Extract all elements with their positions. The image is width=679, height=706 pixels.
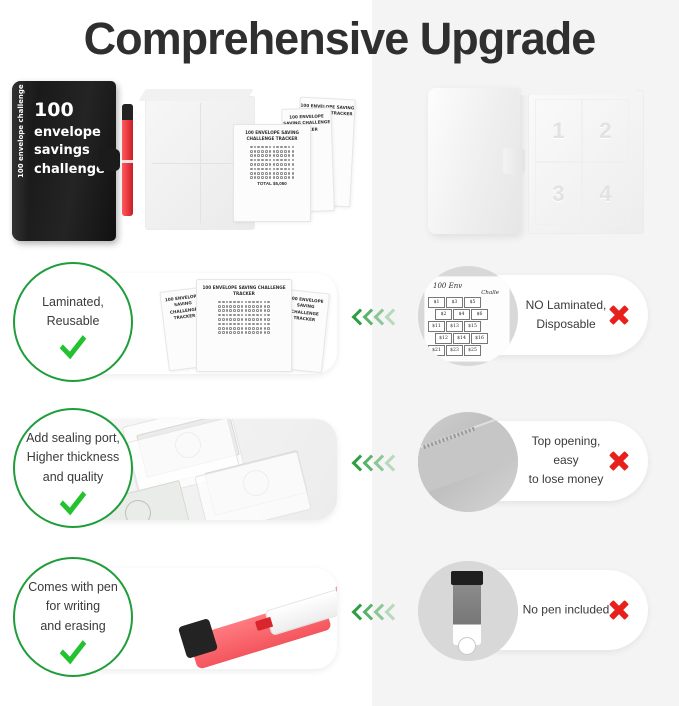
gray-pen-cap: [451, 571, 483, 585]
con-label-1: NO Laminated, Disposable: [519, 296, 613, 334]
check-icon: [60, 328, 87, 359]
pro-label-2: Add sealing port, Higher thickness and q…: [18, 429, 128, 487]
con-art-2-gray-envelope: [418, 412, 518, 512]
hex-cell: $6: [471, 309, 488, 320]
hex-cell: $1: [428, 297, 445, 308]
pro-badge-2: Add sealing port, Higher thickness and q…: [13, 408, 133, 528]
infographic-stage: Comprehensive Upgrade 100 envelope chall…: [0, 0, 679, 706]
comparison-row-1: 100 ENVELOPE SAVING CHALLENGE TRACKER 10…: [0, 258, 679, 388]
hex-cell: $5: [464, 297, 481, 308]
hex-cell: $3: [446, 297, 463, 308]
arrow-group-2: [352, 454, 408, 482]
chevron-left-icon: [374, 603, 385, 625]
gray-pen-image: [418, 561, 518, 661]
pro-label-3: Comes with pen for writing and erasing: [20, 578, 126, 636]
gray-envelope-image: [418, 412, 518, 512]
tracker-sheet-main: 100 ENVELOPE SAVING CHALLENGE TRACKER: [196, 279, 292, 372]
numbered-pockets-image: 1 2 3 4: [528, 90, 644, 234]
comparison-row-2: Add sealing port, Higher thickness and q…: [0, 404, 679, 534]
hero-section: 100 envelope challenge 100 envelope savi…: [0, 76, 679, 246]
hex-row-2: $2 $4 $6: [425, 309, 509, 320]
envelope-flap: [418, 412, 518, 495]
hex-cell: $15: [464, 321, 481, 332]
con-art-1-hexsheet: 100 Env Challe $1 $3 $5 $2 $4 $6 $11 $13: [418, 266, 518, 366]
pocket-number-2: 2: [582, 99, 629, 162]
chevron-left-icon: [352, 454, 363, 476]
hex-row-1: $1 $3 $5: [425, 297, 509, 308]
arrow-group-1: [352, 308, 408, 336]
gray-pen-body: [453, 577, 481, 645]
pocket-number-1: 1: [535, 99, 582, 162]
hex-row-3: $11 $13 $15: [425, 321, 509, 332]
hex-sheet-subtitle: Challe: [425, 290, 509, 296]
chevron-left-icon: [385, 603, 396, 625]
chevron-left-icon: [374, 454, 385, 476]
hero-tracker-sheet-front: 100 ENVELOPE SAVING CHALLENGE TRACKER TO…: [233, 124, 311, 222]
con-art-3-gray-pen: [418, 561, 518, 661]
chevron-left-icon: [363, 454, 374, 476]
black-binder-image: 100 envelope challenge 100 envelope savi…: [12, 81, 116, 241]
con-label-3: No pen included: [519, 600, 613, 619]
pro-label-1: Laminated, Reusable: [34, 293, 112, 332]
red-marker-pen-image: [180, 574, 337, 668]
hex-row-4: $12 $14 $16: [425, 333, 509, 344]
white-binder-clasp: [503, 148, 525, 174]
chevron-left-icon: [385, 308, 396, 330]
comparison-row-3: Comes with pen for writing and erasing N…: [0, 553, 679, 683]
gray-pen-logo: [458, 637, 476, 655]
hex-cell: $14: [453, 333, 470, 344]
hex-sheet-title: 100 Env: [425, 277, 509, 290]
binder-line-2: envelope: [34, 124, 112, 142]
arrow-group-3: [352, 603, 408, 631]
hex-cell: $4: [453, 309, 470, 320]
tracker-fan-image: 100 ENVELOPE SAVING CHALLENGE TRACKER 10…: [164, 277, 337, 372]
tracker-sheet-main-header: 100 ENVELOPE SAVING CHALLENGE TRACKER: [197, 280, 291, 298]
chevron-left-icon: [363, 308, 374, 330]
hero-sheet-front-header: 100 ENVELOPE SAVING CHALLENGE TRACKER: [234, 125, 310, 143]
chevron-left-icon: [352, 308, 363, 330]
hex-sheet-subtitle-wrap: Challe: [425, 290, 509, 296]
tracker-dot-grid: [197, 298, 291, 334]
envelope-stack-top: [138, 89, 253, 101]
pen-cap: [122, 104, 133, 120]
binder-line-1: 100: [34, 97, 112, 124]
red-pen-image: [122, 104, 133, 216]
chevron-left-icon: [385, 454, 396, 476]
hex-cell: $12: [435, 333, 452, 344]
pockets-top: [520, 82, 642, 95]
chevron-left-icon: [363, 603, 374, 625]
hex-cell: $16: [471, 333, 488, 344]
hex-cell: $23: [446, 345, 463, 356]
pocket-number-4: 4: [582, 162, 629, 225]
binder-spine-text: 100 envelope challenge: [17, 106, 25, 178]
hex-cell: $25: [464, 345, 481, 356]
pro-badge-3: Comes with pen for writing and erasing: [13, 557, 133, 677]
white-binder-image: [428, 88, 520, 234]
hex-cell: $11: [428, 321, 445, 332]
pen-ring: [122, 160, 133, 163]
pockets-grid: 1 2 3 4: [535, 99, 629, 225]
check-icon: [60, 633, 87, 664]
hex-row-5: $21 $23 $25: [425, 345, 509, 356]
hex-sheet-image: 100 Env Challe $1 $3 $5 $2 $4 $6 $11 $13: [424, 276, 510, 362]
hex-cell: $2: [435, 309, 452, 320]
pro-badge-1: Laminated, Reusable: [13, 262, 133, 382]
hex-cell: $13: [446, 321, 463, 332]
con-label-2: Top opening, easy to lose money: [519, 432, 613, 490]
page-title: Comprehensive Upgrade: [0, 8, 679, 70]
chevron-left-icon: [374, 308, 385, 330]
chevron-left-icon: [352, 603, 363, 625]
hero-sheet-dot-grid: [234, 143, 310, 179]
pocket-number-3: 3: [535, 162, 582, 225]
binder-clasp: [98, 149, 120, 171]
hero-sheet-total: TOTAL $5,050: [234, 181, 310, 186]
check-icon: [60, 484, 87, 515]
hex-cell: $21: [428, 345, 445, 356]
